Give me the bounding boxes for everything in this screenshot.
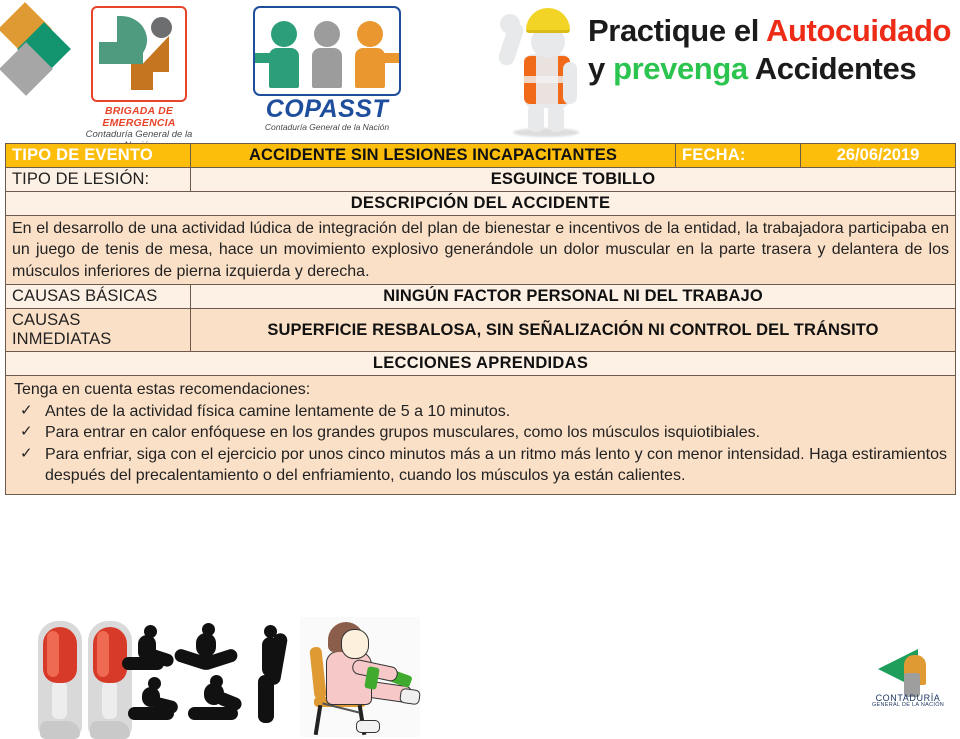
banner-line1-part2: Autocuidado xyxy=(766,13,951,48)
table-row-description-body: En el desarrollo de una actividad lúdica… xyxy=(6,216,956,285)
description-text-cell: En el desarrollo de una actividad lúdica… xyxy=(6,216,956,285)
event-type-label: TIPO DE EVENTO xyxy=(12,146,153,164)
table-row-description-header: DESCRIPCIÓN DEL ACCIDENTE xyxy=(6,192,956,216)
basic-causes-value-cell: NINGÚN FACTOR PERSONAL NI DEL TRABAJO xyxy=(191,285,956,309)
list-item: ✓ Antes de la actividad física camine le… xyxy=(14,401,947,422)
date-value: 26/06/2019 xyxy=(807,146,949,165)
copasst-logo: COPASST Contaduría General de la Nación xyxy=(252,6,402,132)
document-page: BRIGADA DE EMERGENCIA Contaduría General… xyxy=(0,0,960,737)
description-text: En el desarrollo de una actividad lúdica… xyxy=(12,218,949,282)
lessons-text-cell: Tenga en cuenta estas recomendaciones: ✓… xyxy=(6,376,956,494)
table-row-immediate-causes: CAUSAS INMEDIATAS SUPERFICIE RESBALOSA, … xyxy=(6,309,956,352)
table-row-injury: TIPO DE LESIÓN: ESGUINCE TOBILLO xyxy=(6,168,956,192)
event-type-value-cell: ACCIDENTE SIN LESIONES INCAPACITANTES xyxy=(191,144,676,168)
brigada-dot-icon xyxy=(151,17,172,38)
event-type-label-cell: TIPO DE EVENTO xyxy=(6,144,191,168)
footer-image-strip: CONTADURÍA GENERAL DE LA NACIÓN xyxy=(0,617,960,737)
list-item-text: Para enfriar, siga con el ejercicio por … xyxy=(45,446,947,484)
brigada-logo: BRIGADA DE EMERGENCIA Contaduría General… xyxy=(85,6,193,151)
banner-line2-part2: prevenga xyxy=(613,51,748,86)
lessons-list: ✓ Antes de la actividad física camine le… xyxy=(14,401,947,485)
contaduria-subtitle: GENERAL DE LA NACIÓN xyxy=(864,702,952,708)
immediate-causes-value: SUPERFICIE RESBALOSA, SIN SEÑALIZACIÓN N… xyxy=(197,321,949,340)
list-item-text: Para entrar en calor enfóquese en los gr… xyxy=(45,424,760,441)
basic-causes-label-cell: CAUSAS BÁSICAS xyxy=(6,285,191,309)
immediate-causes-value-cell: SUPERFICIE RESBALOSA, SIN SEÑALIZACIÓN N… xyxy=(191,309,956,352)
seated-woman-stretching-image xyxy=(300,617,420,737)
banner-line2-part1: y xyxy=(588,51,613,86)
brigada-title: BRIGADA DE EMERGENCIA xyxy=(85,105,193,129)
brigada-base-icon xyxy=(131,64,153,90)
table-row-lessons-header: LECCIONES APRENDIDAS xyxy=(6,352,956,376)
lessons-intro: Tenga en cuenta estas recomendaciones: xyxy=(14,381,947,399)
event-type-value: ACCIDENTE SIN LESIONES INCAPACITANTES xyxy=(197,146,669,165)
injury-type-value: ESGUINCE TOBILLO xyxy=(197,170,949,189)
banner-line1-part1: Practique el xyxy=(588,13,766,48)
injury-type-label: TIPO DE LESIÓN: xyxy=(12,170,149,188)
immediate-causes-label: CAUSAS INMEDIATAS xyxy=(12,311,111,348)
contaduria-logo: CONTADURÍA GENERAL DE LA NACIÓN xyxy=(864,647,952,713)
injury-type-value-cell: ESGUINCE TOBILLO xyxy=(191,168,956,192)
banner-text: Practique el Autocuidado y prevenga Acci… xyxy=(588,12,958,88)
injury-type-label-cell: TIPO DE LESIÓN: xyxy=(6,168,191,192)
copasst-person-orange-icon xyxy=(355,21,385,88)
list-item-text: Antes de la actividad física camine lent… xyxy=(45,403,510,420)
banner-line-1: Practique el Autocuidado xyxy=(588,12,958,50)
copasst-emblem-icon xyxy=(253,6,401,96)
check-icon: ✓ xyxy=(20,444,33,464)
check-icon: ✓ xyxy=(20,422,33,442)
safety-banner: Practique el Autocuidado y prevenga Acci… xyxy=(480,0,960,140)
description-section-title: DESCRIPCIÓN DEL ACCIDENTE xyxy=(12,194,949,213)
table-row-basic-causes: CAUSAS BÁSICAS NINGÚN FACTOR PERSONAL NI… xyxy=(6,285,956,309)
worker-mascot-icon xyxy=(495,4,590,129)
table-row-lessons-body: Tenga en cuenta estas recomendaciones: ✓… xyxy=(6,376,956,494)
immediate-causes-label-cell: CAUSAS INMEDIATAS xyxy=(6,309,191,352)
date-value-cell: 26/06/2019 xyxy=(801,144,956,168)
diamond-mark-icon xyxy=(2,4,64,104)
lessons-section-header-cell: LECCIONES APRENDIDAS xyxy=(6,352,956,376)
document-header: BRIGADA DE EMERGENCIA Contaduría General… xyxy=(0,0,960,140)
table-row-event: TIPO DE EVENTO ACCIDENTE SIN LESIONES IN… xyxy=(6,144,956,168)
calf-left-icon xyxy=(38,621,82,737)
copasst-person-green-icon xyxy=(269,21,299,88)
copasst-person-grey-icon xyxy=(312,21,342,88)
basic-causes-label: CAUSAS BÁSICAS xyxy=(12,287,157,305)
copasst-title: COPASST xyxy=(252,97,402,122)
accident-report-table: TIPO DE EVENTO ACCIDENTE SIN LESIONES IN… xyxy=(5,143,956,495)
basic-causes-value: NINGÚN FACTOR PERSONAL NI DEL TRABAJO xyxy=(197,287,949,306)
copasst-subtitle: Contaduría General de la Nación xyxy=(252,122,402,132)
lessons-section-title: LECCIONES APRENDIDAS xyxy=(12,354,949,373)
check-icon: ✓ xyxy=(20,401,33,421)
list-item: ✓ Para entrar en calor enfóquese en los … xyxy=(14,422,947,443)
list-item: ✓ Para enfriar, siga con el ejercicio po… xyxy=(14,444,947,486)
stretching-silhouettes-image xyxy=(120,623,298,735)
brigada-emblem-icon xyxy=(91,6,187,102)
date-label: FECHA: xyxy=(682,146,746,164)
banner-line2-part3: Accidentes xyxy=(748,51,916,86)
date-label-cell: FECHA: xyxy=(676,144,801,168)
banner-line-2: y prevenga Accidentes xyxy=(588,50,958,88)
description-section-header-cell: DESCRIPCIÓN DEL ACCIDENTE xyxy=(6,192,956,216)
